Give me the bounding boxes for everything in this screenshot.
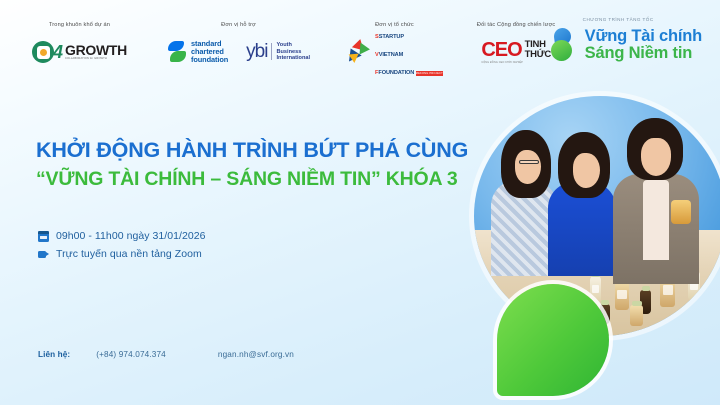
ceo-tinh-thuc-words: TINH THỨC [525,40,551,59]
partner-group-support: Đơn vị hỗ trợ standard chartered foundat… [167,22,310,69]
partner-logo-list: CEO TINH THỨC CỘNG ĐỒNG CEO KHỞI NGHIỆP [481,35,551,69]
ceo-word: CEO [481,41,521,59]
event-details: 09h00 - 11h00 ngày 31/01/2026 Trực tuyến… [38,230,206,266]
program-logo-caption: CHƯƠNG TRÌNH TĂNG TỐC [583,17,654,22]
partner-group-community: Đối tác Cộng đồng chiến lược CEO TINH TH… [477,22,555,69]
contact-row: Liên hệ: (+84) 974.074.374 ngan.nh@svf.o… [38,350,294,359]
held-jar [671,200,691,224]
headline-line-2: “VỮNG TÀI CHÍNH – SÁNG NIỀM TIN” KHÓA 3 [36,168,506,191]
ybi-line-2: Business [276,49,301,55]
scf-line-3: foundation [191,55,228,64]
partner-group-caption: Trong khuôn khổ dự án [49,22,110,28]
ceo-wordmark-row: CEO TINH THỨC [481,40,551,59]
standard-chartered-wordmark: standard chartered foundation [191,40,228,64]
g4growth-word: GROWTH [65,43,127,57]
event-platform: Trực tuyến qua nền tảng Zoom [56,248,202,260]
program-logo-mark [549,24,581,64]
calendar-icon [38,231,49,242]
program-logo-line-2: Sáng Niềm tin [585,45,702,62]
ybi-divider [271,43,272,60]
svf-line-2: VIETNAM [379,52,403,58]
svf-wordmark: SSTARTUP VVIETNAM FFOUNDATION MEKONG PRO… [375,25,443,79]
person-right [613,116,699,288]
partner-group-caption: Đơn vị hỗ trợ [221,22,256,28]
ceo-tinh-thuc-logo: CEO TINH THỨC CỘNG ĐỒNG CEO KHỞI NGHIỆP [481,40,551,64]
g4growth-logo: 4 GROWTH COLLABORATION for GROWTH [32,41,127,63]
headline-block: KHỞI ĐỘNG HÀNH TRÌNH BỨT PHÁ CÙNG “VỮNG … [36,138,506,191]
contact-label: Liên hệ: [38,350,70,359]
svf-pill-label: MEKONG PROJECT [416,71,443,76]
svf-lines: SSTARTUP VVIETNAM FFOUNDATION [375,34,416,76]
partner-logo-list: SSTARTUP VVIETNAM FFOUNDATION MEKONG PRO… [346,35,443,69]
ybi-fullname: Youth Business International [276,42,310,63]
ybi-line-1: Youth [276,42,291,48]
standard-chartered-mark-icon [167,41,187,63]
contact-email[interactable]: ngan.nh@svf.org.vn [218,350,294,359]
partner-logo-list: standard chartered foundation ybi Youth … [167,35,310,69]
startup-vietnam-foundation-logo: SSTARTUP VVIETNAM FFOUNDATION MEKONG PRO… [346,25,443,79]
hero-photo [474,96,720,336]
partner-group-caption: Đối tác Cộng đồng chiến lược [477,22,555,28]
event-platform-row: Trực tuyến qua nền tảng Zoom [38,248,206,260]
product-jar [630,305,643,326]
person-middle [547,128,617,274]
hero-photo-disc [474,96,720,336]
svf-line-1: STARTUP [379,34,404,40]
partner-logo-list: 4 GROWTH COLLABORATION for GROWTH [32,35,127,69]
event-time-row: 09h00 - 11h00 ngày 31/01/2026 [38,230,206,242]
svf-star-icon [346,39,372,65]
standard-chartered-foundation-logo: standard chartered foundation [167,40,228,64]
partner-group-project: Trong khuôn khổ dự án 4 GROWTH COLLABORA… [32,22,127,69]
program-logo-line-1: Vững Tài chính [585,28,702,45]
g4growth-digit: 4 [53,43,63,61]
program-logo-text: Vững Tài chính Sáng Niềm tin [585,24,702,62]
program-logo: CHƯƠNG TRÌNH TĂNG TỐC Vững Tài chính Sán… [549,24,702,64]
ybi-wordmark: ybi [246,42,267,61]
headline-line-1: KHỞI ĐỘNG HÀNH TRÌNH BỨT PHÁ CÙNG [36,138,506,163]
ybi-logo: ybi Youth Business International [246,42,310,63]
g4growth-mark-icon [32,41,54,63]
ceo-line-2: THỨC [525,49,551,60]
video-camera-icon [38,249,49,260]
green-leaf-shape [497,284,609,396]
g4growth-wordmark: GROWTH COLLABORATION for GROWTH [65,43,127,61]
svf-line-3: FOUNDATION [378,70,414,76]
contact-phone[interactable]: (+84) 974.074.374 [96,350,166,359]
partner-group-organizer: Đơn vị tổ chức SSTARTUP VVIETNAM FFOUNDA… [346,22,443,69]
g4growth-tagline: COLLABORATION for GROWTH [65,58,127,61]
ybi-line-3: International [276,55,310,61]
ceo-tagline: CỘNG ĐỒNG CEO KHỞI NGHIỆP [481,61,523,64]
event-time: 09h00 - 11h00 ngày 31/01/2026 [56,230,206,242]
green-circle-icon [551,40,572,61]
